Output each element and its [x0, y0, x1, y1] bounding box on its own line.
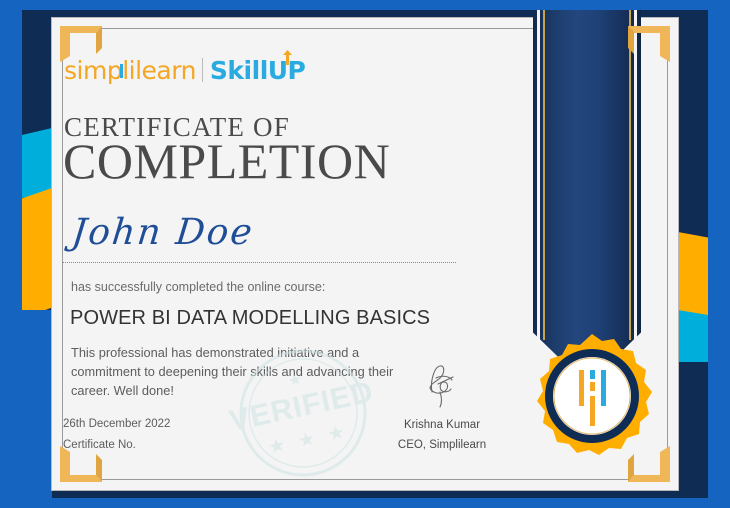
left-edge-blue [22, 310, 52, 498]
ribbon-band-shading [533, 10, 641, 385]
right-edge-accent [678, 10, 708, 498]
signatory-name: Krishna Kumar [399, 419, 485, 431]
left-edge-orange [22, 188, 52, 318]
verified-stamp: VERIFIED ★ ★ ★ ★ [228, 338, 378, 488]
gold-seal [528, 332, 656, 460]
certificate-number-label: Certificate No. [63, 439, 136, 451]
issue-date: 26th December 2022 [63, 418, 170, 430]
ribbon-gap-left [537, 10, 540, 348]
logo-up-arrow-icon [283, 50, 292, 65]
ribbon [533, 10, 641, 385]
corner-bracket-top-right [628, 26, 670, 62]
logo-simplilearn-text: simplilearn [64, 56, 196, 85]
ribbon-pinstripe-left [543, 10, 545, 340]
svg-text:★: ★ [287, 370, 306, 390]
simplilearn-skillup-logo: simplilearn SkillUP [64, 55, 305, 85]
right-edge-orange [678, 232, 708, 324]
recipient-name-underline [63, 262, 456, 263]
left-edge-cyan [22, 128, 52, 198]
left-edge-accent [22, 10, 52, 498]
signatory-title: CEO, Simplilearn [390, 439, 494, 451]
course-title: POWER BI DATA MODELLING BASICS [70, 307, 430, 330]
right-edge-navy-bottom [678, 362, 708, 498]
intro-text: has successfully completed the online co… [71, 280, 325, 294]
corner-bracket-bottom-left [60, 446, 102, 482]
logo-divider [202, 58, 203, 82]
left-edge-navy [22, 10, 52, 135]
signature-icon [418, 362, 470, 408]
certificate: simplilearn SkillUP CERTIFICATE OF COMPL… [0, 0, 730, 508]
recipient-name: John Doe [70, 212, 256, 253]
logo-i-dot-icon [120, 64, 123, 78]
right-edge-navy-top [678, 10, 708, 238]
page-title-line2: COMPLETION [63, 136, 390, 186]
